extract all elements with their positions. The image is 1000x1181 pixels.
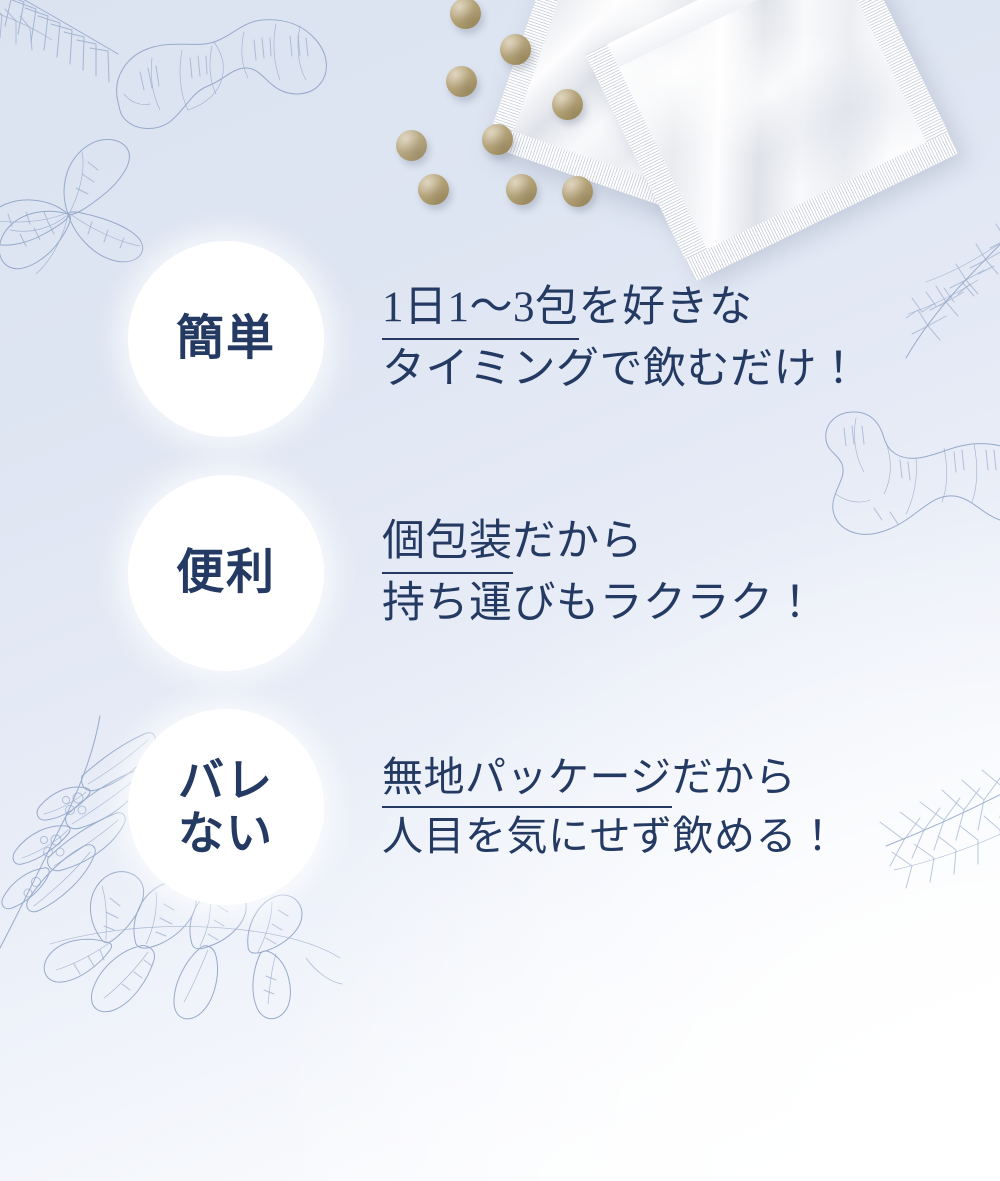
benefit-line: 1日1〜3包を好きな [382, 278, 861, 340]
badge-discreet: バレ ない [128, 709, 324, 905]
benefit-line: タイミングで飲むだけ！ [382, 340, 861, 400]
benefit-rest: だから [672, 754, 797, 800]
benefit-line: 個包装だから [382, 512, 817, 574]
benefit-text-discreet: 無地パッケージだから 人目を気にせず飲める！ [382, 749, 839, 866]
badge-easy-label: 簡単 [176, 314, 276, 364]
benefit-rest: だから [513, 518, 644, 565]
benefit-text-convenient: 個包装だから 持ち運びもラクラク！ [382, 512, 817, 634]
benefit-line: 持ち運びもラクラク！ [382, 574, 817, 634]
badge-discreet-label: バレ ない [178, 754, 274, 861]
benefit-row: 簡単 1日1〜3包を好きな タイミングで飲むだけ！ [128, 241, 988, 437]
benefit-list: 簡単 1日1〜3包を好きな タイミングで飲むだけ！ 便利 個包装だから 持ち運び… [0, 0, 1000, 1181]
benefit-rest: タイミングで飲むだけ！ [382, 346, 861, 393]
benefit-text-easy: 1日1〜3包を好きな タイミングで飲むだけ！ [382, 278, 861, 400]
badge-easy: 簡単 [128, 241, 324, 437]
benefit-emphasis: 個包装 [382, 512, 513, 574]
badge-convenient: 便利 [128, 475, 324, 671]
badge-convenient-label: 便利 [176, 548, 276, 598]
benefit-line: 人目を気にせず飲める！ [382, 808, 839, 865]
benefit-emphasis: 無地パッケージ [382, 749, 672, 808]
promo-panel: 簡単 1日1〜3包を好きな タイミングで飲むだけ！ 便利 個包装だから 持ち運び… [0, 0, 1000, 1181]
benefit-rest: 人目を気にせず飲める！ [382, 813, 839, 859]
benefit-rest: を好きな [579, 284, 753, 331]
benefit-rest: 持ち運びもラクラク！ [382, 580, 817, 627]
benefit-line: 無地パッケージだから [382, 749, 839, 808]
benefit-row: バレ ない 無地パッケージだから 人目を気にせず飲める！ [128, 709, 988, 905]
benefit-emphasis: 1日1〜3包 [382, 278, 579, 340]
benefit-row: 便利 個包装だから 持ち運びもラクラク！ [128, 475, 988, 671]
